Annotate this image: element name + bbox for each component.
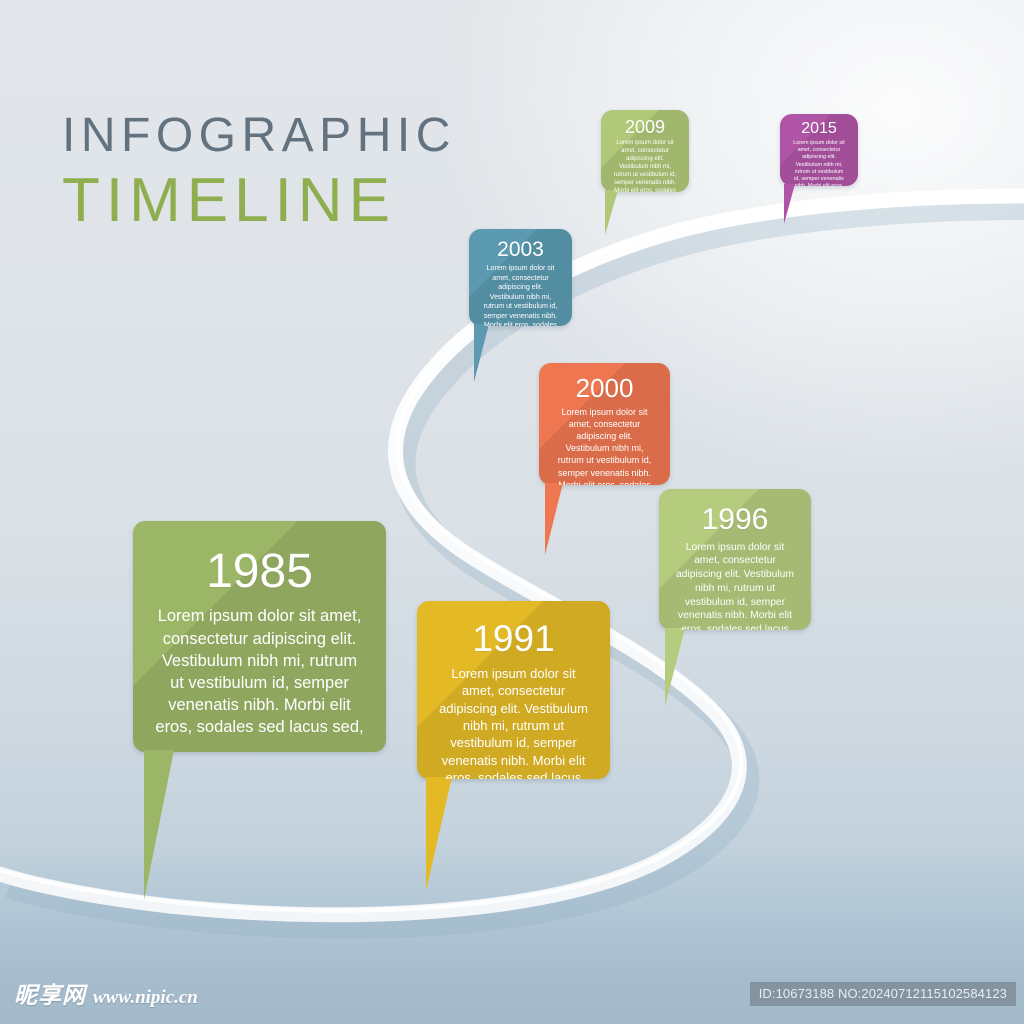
milestone-card-2000[interactable]: 2000 Lorem ipsum dolor sit amet, consect… [539,363,670,485]
card-year-1985: 1985 [141,547,378,597]
card-tail-2015 [784,184,795,224]
card-surface-1996: 1996 Lorem ipsum dolor sit amet, consect… [659,489,811,630]
infographic-canvas: INFOGRAPHIC TIMELINE 2009 Lorem ipsum do… [0,0,1024,1024]
card-tail-1996 [665,628,685,706]
title-line-infographic: INFOGRAPHIC [62,112,456,160]
card-content-1991: 1991 Lorem ipsum dolor sit amet, consect… [417,620,610,779]
card-surface-2009: 2009 Lorem ipsum dolor sit amet, consect… [601,110,689,192]
card-body-2000: Lorem ipsum dolor sit amet, consectetur … [547,406,662,485]
card-content-2015: 2015 Lorem ipsum dolor sit amet, consect… [780,121,858,186]
card-tail-2009 [605,190,618,235]
card-year-2000: 2000 [547,375,662,402]
card-body-2009: Lorem ipsum dolor sit amet, consectetur … [609,139,681,192]
card-content-2009: 2009 Lorem ipsum dolor sit amet, consect… [601,118,689,192]
card-surface-2015: 2015 Lorem ipsum dolor sit amet, consect… [780,114,858,186]
page-title: INFOGRAPHIC TIMELINE [62,112,456,232]
card-year-2003: 2003 [477,239,564,261]
milestone-card-2009[interactable]: 2009 Lorem ipsum dolor sit amet, consect… [601,110,689,192]
card-year-2009: 2009 [609,118,681,137]
card-tail-2000 [545,483,563,555]
card-body-1991: Lorem ipsum dolor sit amet, consectetur … [425,665,602,779]
watermark-logo-text: 昵享网 [14,976,86,1010]
milestone-card-1985[interactable]: 1985 Lorem ipsum dolor sit amet, consect… [133,521,386,752]
watermark-id-badge: ID:10673188 NO:20240712115102584123 [750,982,1016,1006]
card-body-2015: Lorem ipsum dolor sit amet, consectetur … [788,140,850,186]
title-line-timeline: TIMELINE [62,170,456,232]
milestone-card-1991[interactable]: 1991 Lorem ipsum dolor sit amet, consect… [417,601,610,779]
card-body-1996: Lorem ipsum dolor sit amet, consectetur … [667,541,803,631]
card-surface-2003: 2003 Lorem ipsum dolor sit amet, consect… [469,229,572,326]
card-surface-2000: 2000 Lorem ipsum dolor sit amet, consect… [539,363,670,485]
card-tail-2003 [474,324,489,382]
watermark-url: www.nipic.cn [93,987,198,1010]
card-year-1996: 1996 [667,504,803,536]
card-tail-1991 [426,777,452,891]
card-content-2003: 2003 Lorem ipsum dolor sit amet, consect… [469,239,572,326]
card-surface-1991: 1991 Lorem ipsum dolor sit amet, consect… [417,601,610,779]
milestone-card-2015[interactable]: 2015 Lorem ipsum dolor sit amet, consect… [780,114,858,186]
card-content-1985: 1985 Lorem ipsum dolor sit amet, consect… [133,547,386,738]
card-surface-1985: 1985 Lorem ipsum dolor sit amet, consect… [133,521,386,752]
card-content-2000: 2000 Lorem ipsum dolor sit amet, consect… [539,375,670,485]
milestone-card-1996[interactable]: 1996 Lorem ipsum dolor sit amet, consect… [659,489,811,630]
milestone-card-2003[interactable]: 2003 Lorem ipsum dolor sit amet, consect… [469,229,572,326]
card-tail-1985 [144,750,174,900]
card-year-1991: 1991 [425,620,602,659]
card-year-2015: 2015 [788,121,850,138]
card-body-2003: Lorem ipsum dolor sit amet, consectetur … [477,264,564,326]
watermark-logo: 昵享网 www.nipic.cn [14,976,198,1010]
card-content-1996: 1996 Lorem ipsum dolor sit amet, consect… [659,504,811,630]
card-body-1985: Lorem ipsum dolor sit amet, consectetur … [141,605,378,738]
